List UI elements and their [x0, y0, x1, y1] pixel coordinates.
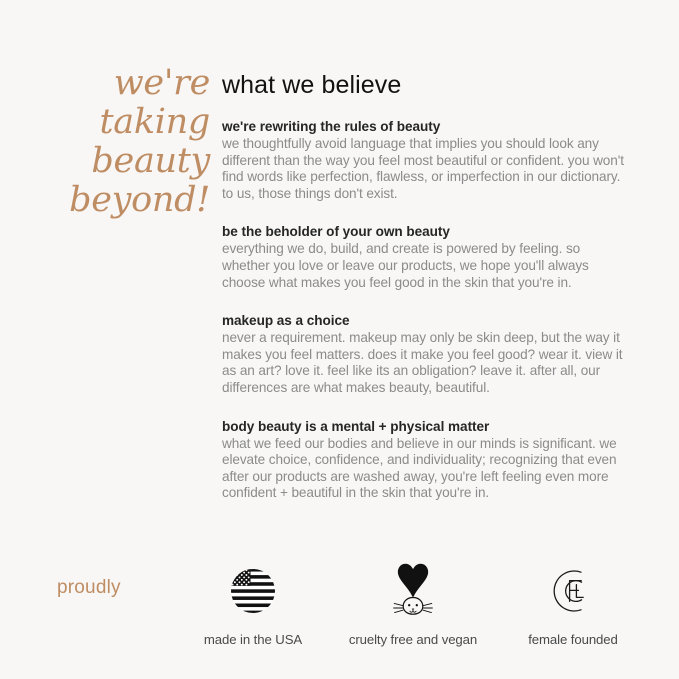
headline-line-4: beyond!: [24, 181, 210, 220]
brand-headline: we're taking beauty beyond!: [24, 64, 210, 220]
section-heading: we're rewriting the rules of beauty: [222, 118, 626, 135]
page-title: what we believe: [222, 70, 626, 100]
badge-caption: female founded: [528, 632, 618, 648]
belief-section-beholder: be the beholder of your own beauty every…: [222, 223, 626, 291]
belief-section-body-beauty: body beauty is a mental + physical matte…: [222, 418, 626, 502]
belief-section-makeup-choice: makeup as a choice never a requirement. …: [222, 312, 626, 396]
usa-flag-circle-icon: [230, 562, 276, 620]
section-body: what we feed our bodies and believe in o…: [222, 436, 626, 502]
section-body: never a requirement. makeup may only be …: [222, 330, 626, 396]
section-heading: be the beholder of your own beauty: [222, 223, 626, 240]
section-heading: makeup as a choice: [222, 312, 626, 329]
badge-cruelty-free: cruelty free and vegan: [338, 562, 488, 648]
headline-line-1: we're: [24, 64, 210, 103]
badge-row: made in the USA cru: [178, 562, 648, 648]
badge-made-in-usa: made in the USA: [178, 562, 328, 648]
belief-section-rewriting-rules: we're rewriting the rules of beauty we t…: [222, 118, 626, 202]
section-body: we thoughtfully avoid language that impl…: [222, 136, 626, 202]
believe-page: we're taking beauty beyond! what we beli…: [0, 0, 679, 679]
proudly-label: proudly: [57, 576, 121, 600]
content-column: what we believe we're rewriting the rule…: [222, 70, 626, 502]
headline-line-3: beauty: [24, 142, 210, 181]
badge-female-founded: female founded: [498, 562, 648, 648]
badge-caption: cruelty free and vegan: [349, 632, 477, 648]
headline-line-2: taking: [24, 103, 210, 142]
cruelty-free-bunny-icon: [390, 562, 436, 620]
section-heading: body beauty is a mental + physical matte…: [222, 418, 626, 435]
female-founded-monogram-icon: [548, 562, 598, 620]
badge-caption: made in the USA: [204, 632, 302, 648]
section-body: everything we do, build, and create is p…: [222, 241, 626, 291]
